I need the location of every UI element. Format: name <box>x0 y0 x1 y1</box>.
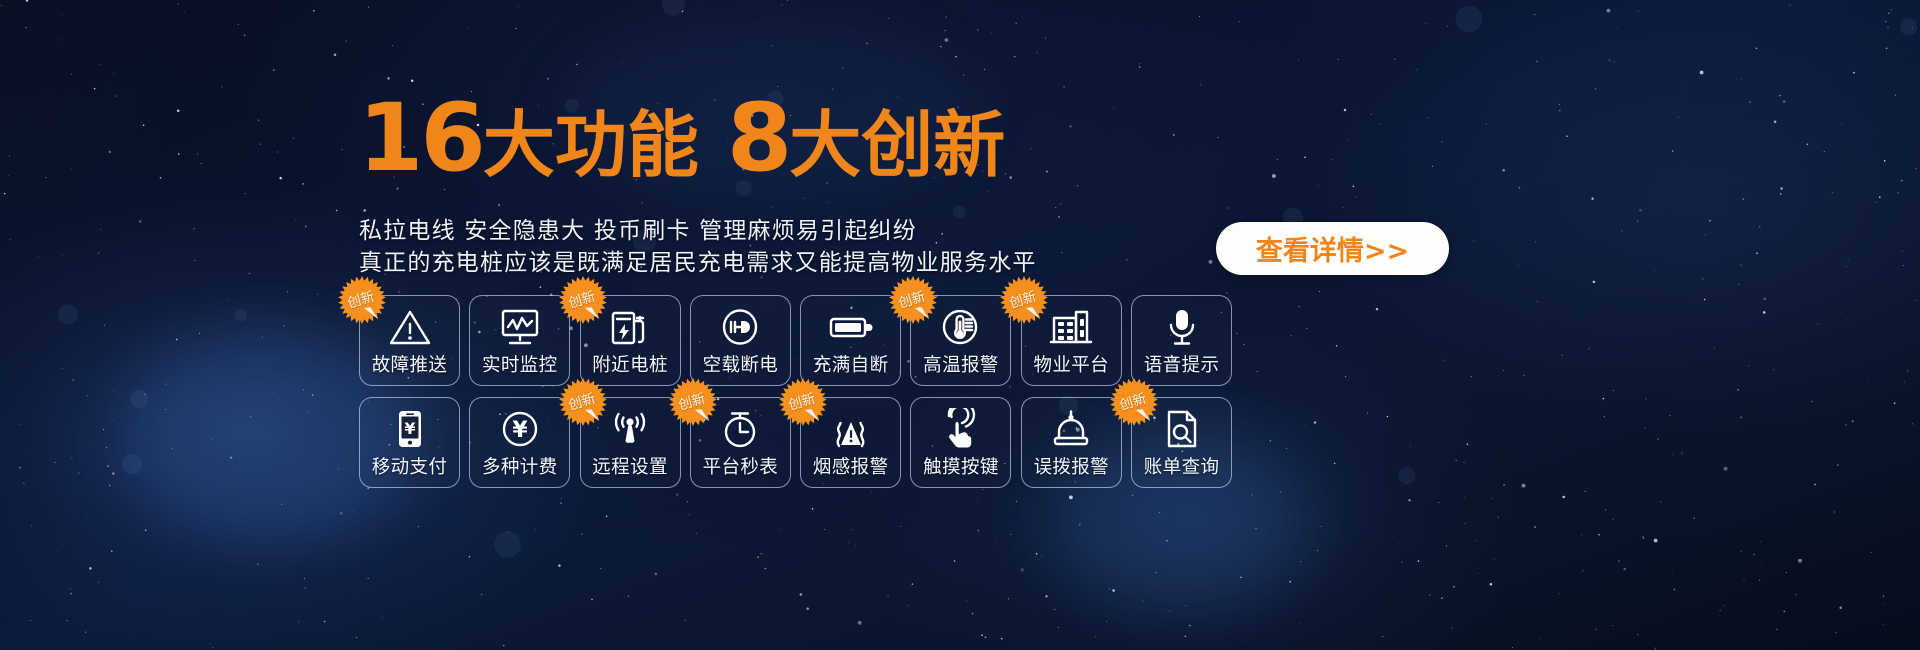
stopwatch-icon <box>691 407 790 451</box>
feature-cell: 触摸按键 <box>910 397 1011 488</box>
headline-text-functions: 大功能 <box>483 103 699 187</box>
building-icon <box>1022 305 1121 349</box>
feature-cell: 平台秒表创新 <box>690 397 791 488</box>
feature-grid: 故障推送创新实时监控附近电桩创新空载断电充满自断高温报警创新物业平台创新语音提示… <box>359 295 1619 488</box>
feature-tile-siren-bell[interactable]: 误拨报警 <box>1021 397 1122 488</box>
feature-label: 误拨报警 <box>1033 453 1109 479</box>
thermometer-icon <box>911 305 1010 349</box>
antenna-signal-icon <box>581 407 680 451</box>
feature-cell: 语音提示 <box>1131 295 1232 386</box>
feature-label: 充满自断 <box>813 351 889 377</box>
feature-label: 多种计费 <box>482 453 558 479</box>
battery-full-icon <box>801 305 900 349</box>
feature-tile-stopwatch[interactable]: 平台秒表 <box>690 397 791 488</box>
feature-cell: 附近电桩创新 <box>580 295 681 386</box>
feature-label: 账单查询 <box>1144 453 1220 479</box>
svg-text:¥: ¥ <box>404 419 415 438</box>
feature-tile-building[interactable]: 物业平台 <box>1021 295 1122 386</box>
feature-label: 实时监控 <box>482 351 558 377</box>
feature-tile-warning-triangle[interactable]: 故障推送 <box>359 295 460 386</box>
headline-text-innovations: 大创新 <box>789 103 1005 187</box>
feature-label: 触摸按键 <box>923 453 999 479</box>
feature-tile-monitor-waveform[interactable]: 实时监控 <box>469 295 570 386</box>
feature-tile-antenna-signal[interactable]: 远程设置 <box>580 397 681 488</box>
warning-triangle-icon <box>360 305 459 349</box>
feature-cell: 物业平台创新 <box>1021 295 1122 386</box>
feature-cell: ¥多种计费 <box>469 397 570 488</box>
feature-cell: ¥移动支付 <box>359 397 460 488</box>
monitor-waveform-icon <box>470 305 569 349</box>
feature-cell: 空载断电 <box>690 295 791 386</box>
feature-tile-charging-pile[interactable]: 附近电桩 <box>580 295 681 386</box>
feature-tile-plug-circle[interactable]: 空载断电 <box>690 295 791 386</box>
feature-cell: 充满自断 <box>800 295 901 386</box>
yuan-circle-icon: ¥ <box>470 407 569 451</box>
headline-number-16: 16 <box>358 84 483 193</box>
feature-tile-thermometer[interactable]: 高温报警 <box>910 295 1011 386</box>
subtitle-line-2: 真正的充电桩应该是既满足居民充电需求又能提高物业服务水平 <box>359 243 1037 277</box>
feature-tile-battery-full[interactable]: 充满自断 <box>800 295 901 386</box>
plug-circle-icon <box>691 305 790 349</box>
feature-tile-bill-search[interactable]: 账单查询 <box>1131 397 1232 488</box>
feature-label: 移动支付 <box>372 453 448 479</box>
feature-cell: 高温报警创新 <box>910 295 1011 386</box>
microphone-icon <box>1132 305 1231 349</box>
feature-label: 物业平台 <box>1033 351 1109 377</box>
mobile-payment-icon: ¥ <box>360 407 459 451</box>
siren-bell-icon <box>1022 407 1121 451</box>
feature-cell: 烟感报警创新 <box>800 397 901 488</box>
feature-label: 附近电桩 <box>592 351 668 377</box>
feature-tile-yuan-circle[interactable]: ¥多种计费 <box>469 397 570 488</box>
smoke-alarm-icon <box>801 407 900 451</box>
touch-hand-icon <box>911 407 1010 451</box>
bill-search-icon <box>1132 407 1231 451</box>
charging-pile-icon <box>581 305 680 349</box>
feature-tile-mobile-payment[interactable]: ¥移动支付 <box>359 397 460 488</box>
feature-tile-touch-hand[interactable]: 触摸按键 <box>910 397 1011 488</box>
headline-number-8: 8 <box>727 84 789 193</box>
feature-tile-smoke-alarm[interactable]: 烟感报警 <box>800 397 901 488</box>
banner-stage: 16大功能8大创新 私拉电线 安全隐患大 投币刷卡 管理麻烦易引起纠纷 真正的充… <box>0 0 1920 650</box>
svg-text:¥: ¥ <box>512 418 528 443</box>
feature-label: 故障推送 <box>372 351 448 377</box>
feature-cell: 故障推送创新 <box>359 295 460 386</box>
feature-label: 空载断电 <box>703 351 779 377</box>
feature-cell: 账单查询创新 <box>1131 397 1232 488</box>
headline: 16大功能8大创新 <box>358 92 1005 186</box>
feature-label: 高温报警 <box>923 351 999 377</box>
feature-cell: 实时监控 <box>469 295 570 386</box>
feature-cell: 误拨报警 <box>1021 397 1122 488</box>
subtitle-line-1: 私拉电线 安全隐患大 投币刷卡 管理麻烦易引起纠纷 <box>359 211 917 245</box>
feature-label: 烟感报警 <box>813 453 889 479</box>
feature-tile-microphone[interactable]: 语音提示 <box>1131 295 1232 386</box>
feature-row-2: ¥移动支付¥多种计费远程设置创新平台秒表创新烟感报警创新触摸按键误拨报警账单查询… <box>359 397 1619 488</box>
feature-row-1: 故障推送创新实时监控附近电桩创新空载断电充满自断高温报警创新物业平台创新语音提示 <box>359 295 1619 386</box>
feature-label: 语音提示 <box>1144 351 1220 377</box>
feature-cell: 远程设置创新 <box>580 397 681 488</box>
view-details-button[interactable]: 查看详情>> <box>1216 222 1449 275</box>
feature-label: 平台秒表 <box>703 453 779 479</box>
feature-label: 远程设置 <box>592 453 668 479</box>
